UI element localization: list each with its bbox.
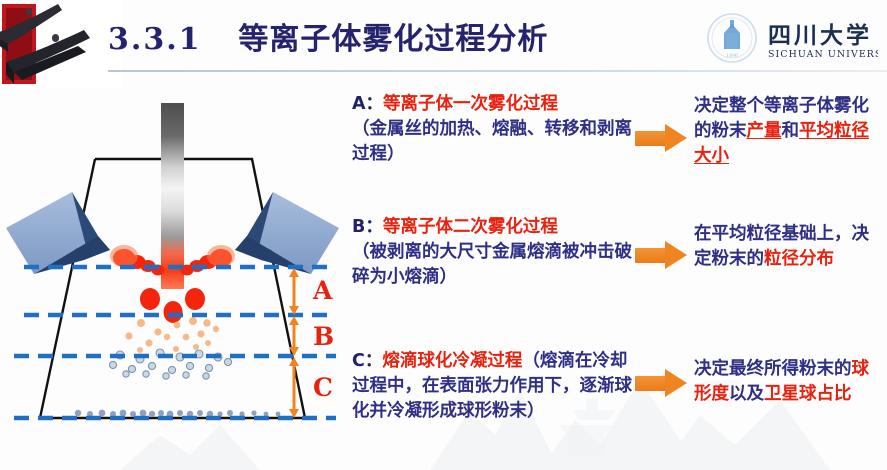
item-b-headline: 等离子体二次雾化过程 bbox=[383, 217, 558, 237]
item-a-headline: 等离子体一次雾化过程 bbox=[383, 94, 558, 114]
item-a-result: 决定整个等离子体雾化的粉末产量和平均粒径大小 bbox=[694, 94, 884, 169]
zone-letter-a: A bbox=[312, 276, 333, 305]
item-b-result: 在平均粒径基础上，决定粉末的粒径分布 bbox=[694, 222, 884, 272]
zone-dashed-lines bbox=[14, 267, 336, 418]
item-c-arrow bbox=[635, 369, 687, 399]
right-arrow-icon bbox=[635, 369, 687, 397]
item-c-label: C： bbox=[352, 351, 382, 371]
item-a-label: A： bbox=[352, 94, 383, 114]
right-arrow-icon bbox=[635, 241, 687, 269]
page-title: 3.3.1 等离子体雾化过程分析 bbox=[108, 14, 548, 58]
item-a-detail: （金属丝的加热、熔融、转移和剥离过程） bbox=[352, 119, 632, 164]
item-a-result-part-2: 和 bbox=[782, 121, 800, 141]
svg-text:1896: 1896 bbox=[726, 53, 738, 59]
logo-chinese-name: 四川大学 bbox=[768, 22, 872, 49]
item-a-result-part-1: 产量 bbox=[747, 121, 782, 141]
zone-letters: A B C bbox=[312, 276, 334, 402]
item-c-description: C：熔滴球化冷凝过程（熔滴在冷却过程中，在表面张力作用下，逐渐球化并冷凝形成球形… bbox=[352, 349, 642, 424]
header-divider bbox=[108, 70, 887, 72]
item-c-headline: 熔滴球化冷凝过程 bbox=[382, 351, 522, 371]
metal-wire-gradient bbox=[161, 103, 184, 289]
slide-header: 3.3.1 等离子体雾化过程分析 1896 四川大学 SICHUAN UNIVE… bbox=[0, 0, 887, 74]
sichuan-university-emblem: 1896 bbox=[708, 14, 756, 62]
item-a-arrow bbox=[635, 124, 687, 154]
powder-bed-group bbox=[75, 410, 281, 418]
right-arrow-icon bbox=[635, 124, 687, 152]
item-b-result-part-1: 粒径分布 bbox=[764, 249, 834, 269]
slide-canvas: 3.3.1 等离子体雾化过程分析 1896 四川大学 SICHUAN UNIVE… bbox=[0, 0, 887, 470]
item-c-result: 决定最终所得粉末的球形度以及卫星球占比 bbox=[694, 357, 884, 407]
plasma-torch-left bbox=[6, 192, 110, 274]
spheroidizing-particle-group bbox=[109, 349, 231, 379]
plasma-torch-right bbox=[235, 192, 339, 274]
item-a-description: A：等离子体一次雾化过程 （金属丝的加热、熔融、转移和剥离过程） bbox=[352, 92, 642, 167]
item-c-result-part-0: 决定最终所得粉末的 bbox=[694, 359, 852, 379]
logo-english-name: SICHUAN UNIVERSITY bbox=[768, 49, 878, 60]
item-c-result-part-2: 以及 bbox=[729, 384, 764, 404]
item-b-detail: （被剥离的大尺寸金属熔滴被冲击破碎为小熔滴） bbox=[352, 242, 632, 287]
pavilion-roof-image bbox=[0, 0, 122, 88]
item-b-arrow bbox=[635, 241, 687, 271]
zone-letter-c: C bbox=[313, 373, 333, 402]
item-b-label: B： bbox=[352, 217, 383, 237]
title-number: 3.3.1 bbox=[108, 22, 202, 57]
plasma-atomization-process-diagram: A B C bbox=[0, 84, 345, 470]
university-logo: 1896 四川大学 SICHUAN UNIVERSITY bbox=[706, 12, 878, 66]
svg-text:四川大学: 四川大学 bbox=[768, 22, 872, 49]
item-b-description: B：等离子体二次雾化过程 （被剥离的大尺寸金属熔滴被冲击破碎为小熔滴） bbox=[352, 215, 642, 290]
item-c-result-part-3: 卫星球占比 bbox=[764, 384, 852, 404]
zone-letter-b: B bbox=[313, 322, 334, 351]
title-text: 等离子体雾化过程分析 bbox=[238, 22, 548, 57]
